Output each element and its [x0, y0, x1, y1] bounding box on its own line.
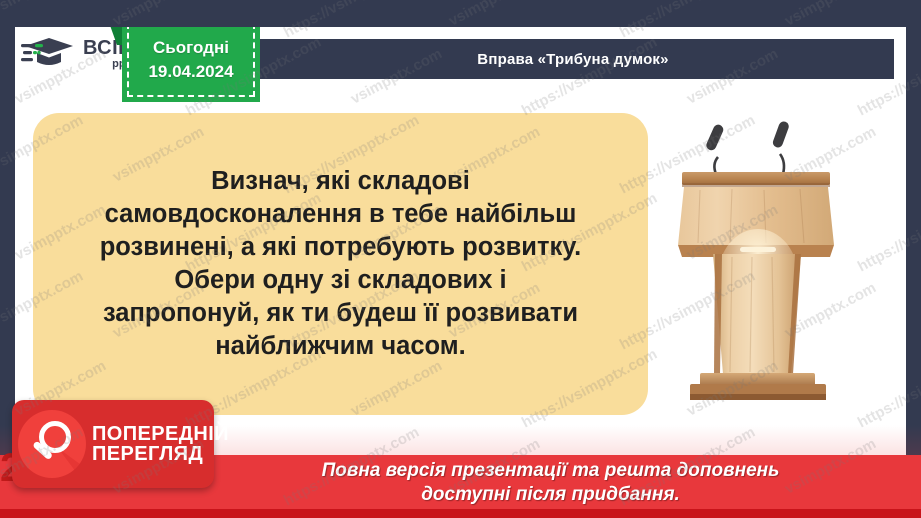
slide-title: Вправа «Трибуна думок» — [477, 51, 668, 68]
graduation-cap-icon — [21, 35, 79, 73]
preview-badge[interactable]: ПОПЕРЕДНІЙ ПЕРЕГЛЯД — [12, 400, 214, 488]
content-card: Визнач, які складові самовдосконалення в… — [33, 113, 648, 415]
watermark-text: vsimpptx.com — [446, 0, 543, 30]
podium-illustration — [660, 102, 906, 407]
preview-badge-line2: ПЕРЕГЛЯД — [92, 444, 229, 464]
slide-root: ВСІМ pptx Сьогодні 19.04.2024 Вправа «Тр… — [0, 0, 921, 518]
slide-header-bar: Вправа «Трибуна думок» — [252, 39, 894, 79]
date-badge: Сьогодні 19.04.2024 — [122, 27, 260, 102]
date-badge-date: 19.04.2024 — [148, 62, 233, 82]
date-badge-label: Сьогодні — [153, 38, 229, 58]
watermark-text: vsimpptx.com — [110, 0, 207, 30]
purchase-notice-text: Повна версія презентації та решта доповн… — [200, 459, 901, 508]
content-text: Визнач, які складові самовдосконалення в… — [100, 165, 582, 364]
magnifier-icon — [18, 410, 86, 478]
preview-badge-label: ПОПЕРЕДНІЙ ПЕРЕГЛЯД — [92, 424, 229, 464]
preview-badge-line1: ПОПЕРЕДНІЙ — [92, 424, 229, 444]
watermark-text: vsimpptx.com — [782, 0, 879, 30]
